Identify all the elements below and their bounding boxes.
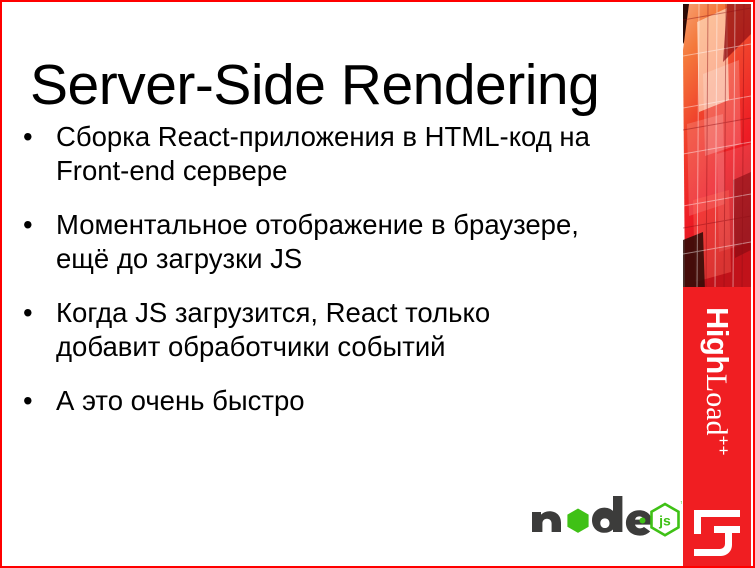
bullet-marker-icon: • (23, 384, 33, 418)
nodejs-letter-n (532, 511, 561, 532)
bullet-item: • Сборка React-приложения в HTML-код на … (16, 120, 676, 187)
nodejs-letter-e-dot (640, 518, 646, 524)
bullet-list: • Сборка React-приложения в HTML-код на … (16, 120, 676, 418)
slide-title: Server-Side Rendering (30, 56, 660, 116)
highload-brand-panel: HighLoad++ (683, 287, 751, 568)
wordmark-high-text: High (700, 307, 735, 374)
bullet-marker-icon: • (23, 208, 33, 242)
abstract-geometric-graphic (683, 4, 751, 291)
nodejs-js-text: js (658, 513, 671, 529)
bullet-item: • Когда JS загрузится, React только доба… (16, 296, 676, 363)
nodejs-letter-d (592, 496, 622, 533)
highload-wordmark: HighLoad++ (701, 307, 733, 455)
bullet-text: Сборка React-приложения в HTML-код на Fr… (56, 120, 676, 187)
nodejs-letter-o-hexagon (567, 509, 588, 533)
bullet-marker-icon: • (23, 296, 33, 330)
wordmark-load-text: Load (700, 374, 733, 436)
presentation-slide: Server-Side Rendering • Сборка React-при… (0, 0, 755, 568)
highload-logo-mark-icon (690, 506, 744, 560)
bullet-text: Моментальное отображение в браузере, ещё… (56, 208, 676, 275)
bullet-text: А это очень быстро (56, 384, 676, 418)
bullet-item: • Моментальное отображение в браузере, е… (16, 208, 676, 275)
nodejs-letter-e (626, 510, 652, 535)
bullet-text: Когда JS загрузится, React только добави… (56, 296, 676, 363)
wordmark-plus-text: ++ (714, 436, 733, 456)
bullet-marker-icon: • (23, 120, 33, 154)
nodejs-logo: js ™ (530, 494, 682, 546)
bullet-item: • А это очень быстро (16, 384, 676, 418)
nodejs-trademark-text: ™ (680, 501, 682, 508)
